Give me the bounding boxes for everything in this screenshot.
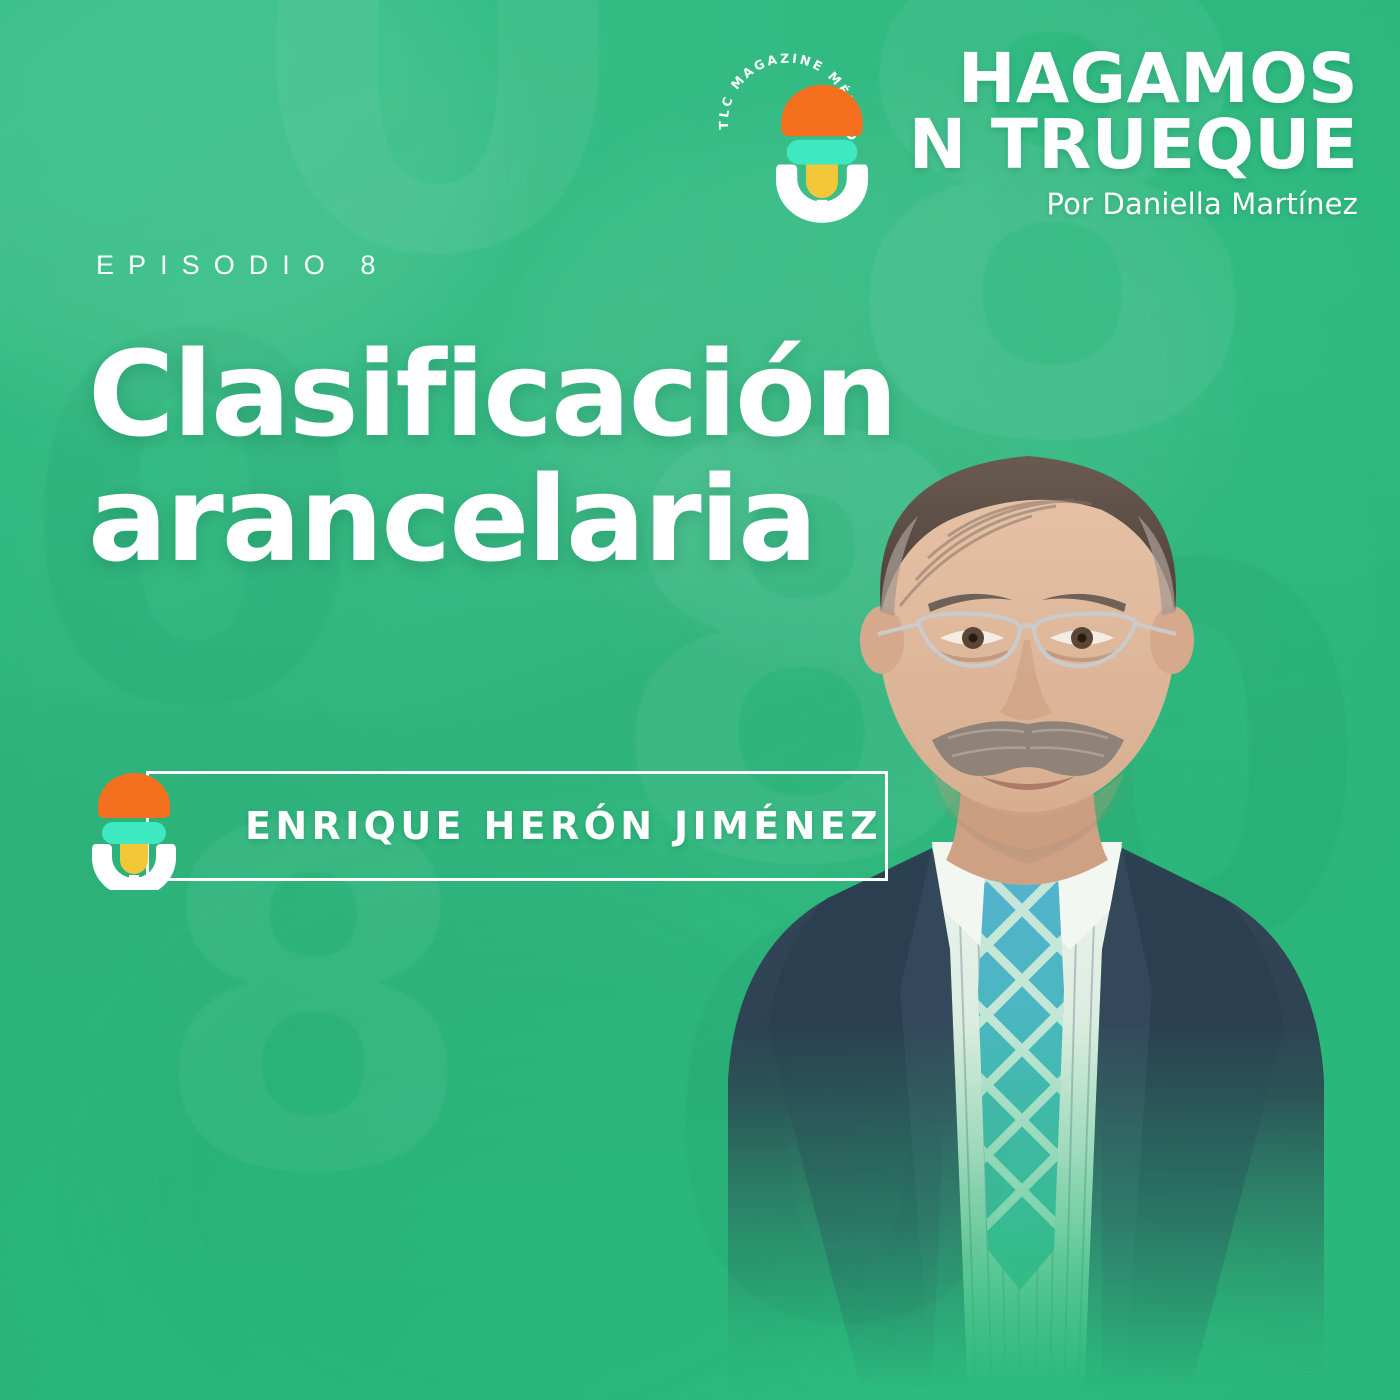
episode-label: EPISODIO 8 <box>96 250 389 281</box>
brand-logo: TLC MAGAZINE MÉXICO <box>847 46 1358 221</box>
page-title: Clasificación arancelaria <box>88 332 968 582</box>
guest-name: ENRIQUE HERÓN JIMÉNEZ <box>245 804 882 848</box>
guest-name-frame: ENRIQUE HERÓN JIMÉNEZ <box>146 771 888 881</box>
guest-strip: ENRIQUE HERÓN JIMÉNEZ <box>78 762 888 890</box>
brand-title-line-1: HAGAMOS <box>847 46 1358 112</box>
brand-title-rows: TLC MAGAZINE MÉXICO <box>847 46 1358 178</box>
title-line-2: arancelaria <box>88 457 968 582</box>
logo-microphone-icon <box>753 76 823 154</box>
brand-title-line-2: N TRUEQUE <box>847 112 1358 178</box>
podcast-cover: 0 8 0 8 0 8 0 TLC MAGAZINE MÉXICO <box>0 0 1400 1400</box>
guest-microphone-icon <box>78 762 190 890</box>
brand-badge: TLC MAGAZINE MÉXICO <box>719 38 857 176</box>
host-credit: Por Daniella Martínez <box>1047 187 1358 221</box>
title-line-1: Clasificación <box>88 332 968 457</box>
